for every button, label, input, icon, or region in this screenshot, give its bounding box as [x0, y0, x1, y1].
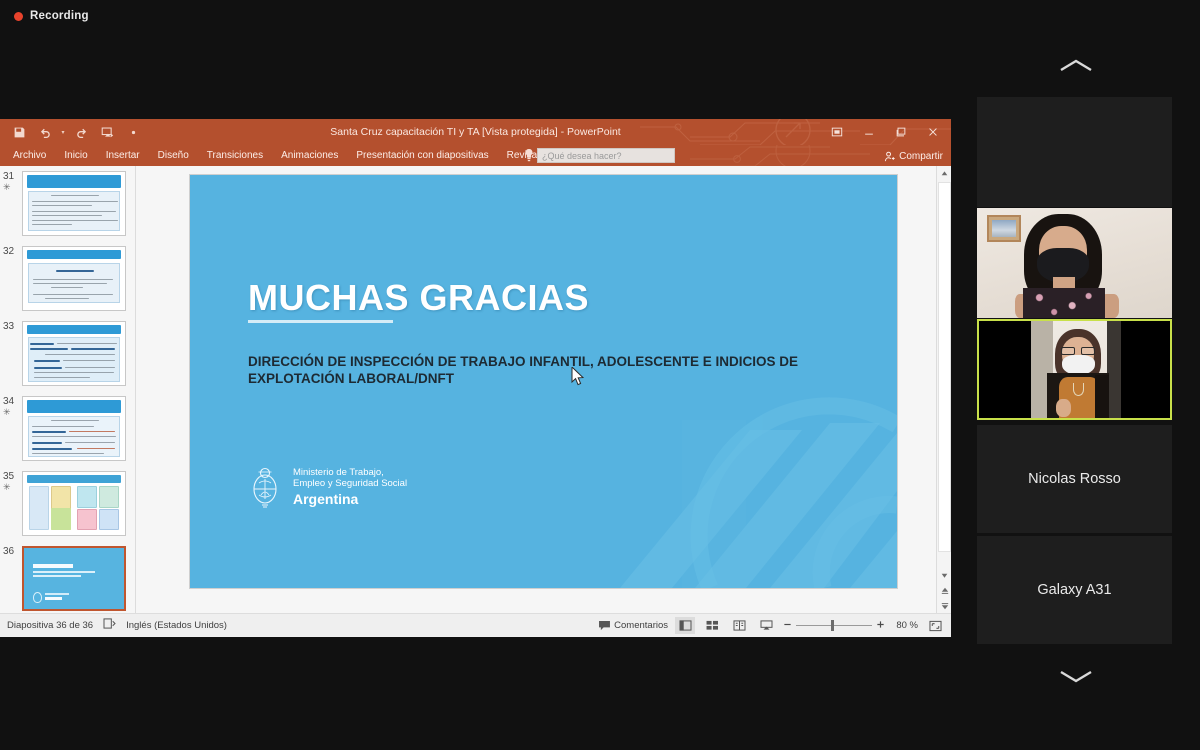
scrollbar-thumb[interactable]: [938, 182, 951, 552]
eyeglasses: [1061, 347, 1095, 355]
tell-me-search-input[interactable]: ¿Qué desea hacer?: [537, 148, 675, 163]
thumbnail-preview-33[interactable]: [22, 321, 126, 386]
thumbnail-row-34[interactable]: 34 ✳: [0, 394, 135, 469]
powerpoint-status-bar: Diapositiva 36 de 36 Inglés (Estados Uni…: [0, 613, 951, 636]
slide-subtitle[interactable]: DIRECCIÓN DE INSPECCIÓN DE TRABAJO INFAN…: [248, 353, 808, 387]
tell-me-bulb-icon: [524, 149, 534, 166]
zoom-slider-track[interactable]: [796, 620, 872, 631]
status-left: Diapositiva 36 de 36 Inglés (Estados Uni…: [0, 618, 227, 632]
zoom-slider-handle[interactable]: [831, 620, 834, 631]
slide-vertical-scrollbar[interactable]: [936, 166, 951, 613]
thumbnail-row-35[interactable]: 35 ✳: [0, 469, 135, 544]
thumbnail-number: 34: [3, 396, 22, 407]
reading-view-icon[interactable]: [729, 617, 749, 634]
comment-bubble-icon: [599, 621, 610, 631]
recording-label: Recording: [30, 10, 89, 22]
slide-title-underline: [248, 320, 393, 323]
argentina-coat-of-arms-icon: [248, 465, 282, 509]
thumbnail-number: 36: [3, 546, 22, 557]
scroll-down-arrow-icon[interactable]: [937, 568, 951, 583]
thumb36-logo-icon: [33, 592, 42, 603]
menu-tab-presentacion-con-diapositivas[interactable]: Presentación con diapositivas: [347, 145, 497, 166]
wall-picture-frame: [987, 215, 1021, 242]
thumb36-title: [33, 564, 73, 568]
language-status[interactable]: Inglés (Estados Unidos): [126, 620, 227, 631]
share-label: Compartir: [899, 151, 943, 162]
scroll-up-arrow-icon[interactable]: [937, 166, 951, 181]
slide-counter[interactable]: Diapositiva 36 de 36: [7, 620, 93, 631]
slide-edit-area: MUCHAS GRACIAS DIRECCIÓN DE INSPECCIÓN D…: [136, 166, 951, 613]
thumbnail-row-32[interactable]: 32: [0, 244, 135, 319]
powerpoint-menubar: Archivo Inicio Insertar Diseño Transicio…: [0, 145, 951, 166]
thumbnail-preview-36-selected[interactable]: [22, 546, 126, 611]
thumbnail-number: 32: [3, 246, 22, 257]
zoom-in-icon[interactable]: [876, 620, 885, 632]
close-icon[interactable]: [917, 119, 949, 145]
zoom-level-label[interactable]: 80 %: [892, 620, 918, 631]
powerpoint-body: 31 ✳: [0, 166, 951, 613]
logo-text-block: Ministerio de Trabajo, Empleo y Segurida…: [293, 467, 407, 508]
thumbnail-meta: 31 ✳: [0, 171, 22, 192]
mouse-cursor-icon: [571, 367, 584, 386]
face-mask-white: [1062, 355, 1095, 375]
thumbnail-animation-star-icon: ✳: [3, 182, 22, 192]
participant-tile-empty[interactable]: [977, 97, 1172, 207]
scrollbar-bottom-controls: [937, 568, 951, 613]
participant-name-label: Nicolas Rosso: [977, 471, 1172, 487]
menu-tab-insertar[interactable]: Insertar: [97, 145, 149, 166]
thumbnail-meta: 32: [0, 246, 22, 257]
thumbnail-meta: 33: [0, 321, 22, 332]
logo-line-3: Argentina: [293, 491, 407, 508]
normal-view-icon[interactable]: [675, 617, 695, 634]
restore-icon[interactable]: [885, 119, 917, 145]
logo-line-2: Empleo y Seguridad Social: [293, 478, 407, 490]
video-feed-1: [977, 208, 1172, 318]
zoom-slider[interactable]: [783, 620, 885, 632]
fit-slide-to-window-icon[interactable]: [925, 617, 945, 634]
chevron-up-icon[interactable]: [951, 52, 1200, 80]
thumbnail-number: 31: [3, 171, 22, 182]
menu-tab-transiciones[interactable]: Transiciones: [198, 145, 272, 166]
menu-tab-animaciones[interactable]: Animaciones: [272, 145, 347, 166]
status-right: Comentarios: [599, 614, 945, 637]
participant-tile-nicolas-rosso[interactable]: Nicolas Rosso: [977, 425, 1172, 533]
powerpoint-window: ▾ Santa Cruz capacitación TI y TA [Vista…: [0, 119, 951, 637]
zoom-out-icon[interactable]: [783, 620, 792, 632]
current-slide[interactable]: MUCHAS GRACIAS DIRECCIÓN DE INSPECCIÓN D…: [190, 175, 897, 588]
participant-tile-video-1[interactable]: [977, 208, 1172, 318]
recording-indicator: Recording: [14, 10, 89, 22]
video-feed-2: [979, 321, 1170, 418]
accessibility-check-icon[interactable]: [103, 618, 116, 632]
menu-tab-diseno[interactable]: Diseño: [149, 145, 198, 166]
share-button[interactable]: Compartir: [884, 148, 943, 164]
participant-name-label: Galaxy A31: [977, 582, 1172, 598]
powerpoint-titlebar: ▾ Santa Cruz capacitación TI y TA [Vista…: [0, 119, 951, 145]
window-title: Santa Cruz capacitación TI y TA [Vista p…: [0, 119, 951, 145]
previous-slide-button[interactable]: [937, 583, 951, 598]
comments-label: Comentarios: [614, 620, 668, 631]
comments-button[interactable]: Comentarios: [599, 620, 668, 631]
thumbnail-number: 35: [3, 471, 22, 482]
ribbon-display-options-icon[interactable]: [821, 119, 853, 145]
thumbnail-preview-31[interactable]: [22, 171, 126, 236]
thumbnail-animation-star-icon: ✳: [3, 482, 22, 492]
next-slide-button[interactable]: [937, 598, 951, 613]
thumbnail-number: 33: [3, 321, 22, 332]
thumbnail-row-36[interactable]: 36: [0, 544, 135, 613]
logo-line-1: Ministerio de Trabajo,: [293, 467, 407, 479]
chevron-down-icon[interactable]: [951, 662, 1200, 690]
share-person-icon: [884, 151, 895, 162]
menu-tabs: Archivo Inicio Insertar Diseño Transicio…: [0, 145, 590, 166]
participant-tile-galaxy-a31[interactable]: Galaxy A31: [977, 536, 1172, 644]
thumbnail-preview-34[interactable]: [22, 396, 126, 461]
slide-title[interactable]: MUCHAS GRACIAS: [248, 277, 589, 319]
screen-root: Recording: [0, 0, 1200, 750]
menu-tab-archivo[interactable]: Archivo: [4, 145, 55, 166]
slide-sorter-view-icon[interactable]: [702, 617, 722, 634]
slide-logo-block: Ministerio de Trabajo, Empleo y Segurida…: [248, 465, 407, 509]
thumbnail-row-33[interactable]: 33: [0, 319, 135, 394]
slideshow-view-icon[interactable]: [756, 617, 776, 634]
video-participant-panel: Nicolas Rosso Galaxy A31: [951, 0, 1200, 750]
thumbnail-animation-star-icon: ✳: [3, 407, 22, 417]
thumbnail-meta: 35 ✳: [0, 471, 22, 492]
minimize-icon[interactable]: [853, 119, 885, 145]
participant-tile-video-2-active-speaker[interactable]: [977, 319, 1172, 420]
thumbnail-preview-32[interactable]: [22, 246, 126, 311]
thumbnail-preview-35[interactable]: [22, 471, 126, 536]
thumbnail-meta: 34 ✳: [0, 396, 22, 417]
thumbnail-meta: 36: [0, 546, 22, 557]
recording-dot-icon: [14, 12, 23, 21]
menu-tab-inicio[interactable]: Inicio: [55, 145, 96, 166]
slide-thumbnail-pane[interactable]: 31 ✳: [0, 166, 136, 613]
thumbnail-row-31[interactable]: 31 ✳: [0, 169, 135, 244]
window-controls: [821, 119, 949, 145]
